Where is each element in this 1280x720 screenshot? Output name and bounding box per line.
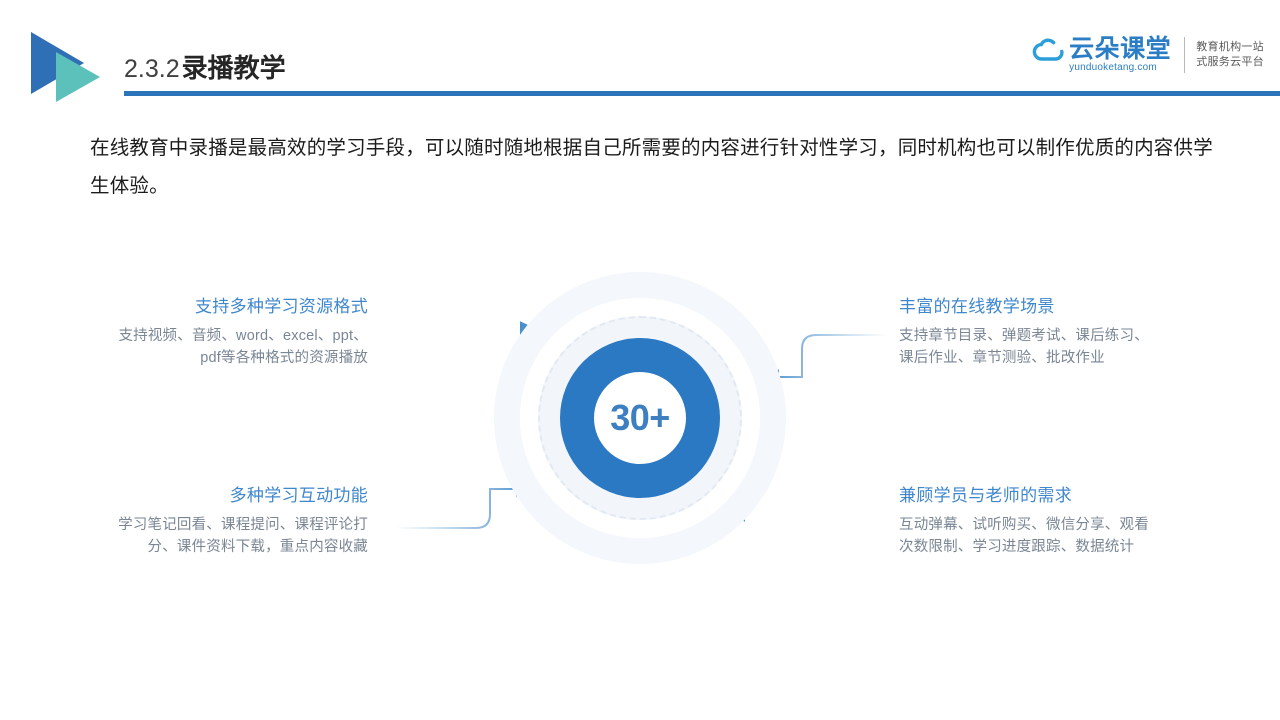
callout-bottom-left-desc-line1: 学习笔记回看、课程提问、课程评论打 bbox=[78, 514, 368, 536]
hub-core: 30+ bbox=[594, 372, 686, 464]
brand-text: 云朵课堂 yunduoketang.com bbox=[1069, 36, 1171, 74]
play-triangle-logo-icon bbox=[22, 28, 114, 106]
header-divider bbox=[124, 91, 1280, 96]
intro-paragraph: 在线教育中录播是最高效的学习手段，可以随时随地根据自己所需要的内容进行针对性学习… bbox=[90, 129, 1220, 205]
section-number: 2.3.2 bbox=[124, 55, 180, 83]
callout-bottom-right: 兼顾学员与老师的需求 互动弹幕、试听购买、微信分享、观看 次数限制、学习进度跟踪… bbox=[899, 484, 1209, 558]
brand-name-cn: 云朵课堂 bbox=[1069, 36, 1171, 62]
slide-root: 2.3.2录播教学 云朵课堂 yunduoketang.com 教育机构一站 式… bbox=[0, 0, 1280, 720]
callout-bottom-left-desc: 学习笔记回看、课程提问、课程评论打 分、课件资料下载，重点内容收藏 bbox=[78, 514, 368, 558]
callout-top-right-title: 丰富的在线教学场景 bbox=[899, 295, 1209, 319]
brand-logo: 云朵课堂 yunduoketang.com 教育机构一站 式服务云平台 bbox=[1031, 29, 1264, 81]
callout-top-left: 支持多种学习资源格式 支持视频、音频、word、excel、ppt、 pdf等各… bbox=[78, 295, 368, 369]
callout-bottom-left-title: 多种学习互动功能 bbox=[78, 484, 368, 508]
callout-top-left-desc-line2: pdf等各种格式的资源播放 bbox=[78, 347, 368, 369]
callout-bottom-left-desc-line2: 分、课件资料下载，重点内容收藏 bbox=[78, 536, 368, 558]
brand-tagline-line2: 式服务云平台 bbox=[1196, 55, 1264, 70]
cloud-icon bbox=[1031, 35, 1065, 69]
callout-top-right-desc: 支持章节目录、弹题考试、课后练习、 课后作业、章节测验、批改作业 bbox=[899, 325, 1209, 369]
callout-bottom-left: 多种学习互动功能 学习笔记回看、课程提问、课程评论打 分、课件资料下载，重点内容… bbox=[78, 484, 368, 558]
callout-top-right: 丰富的在线教学场景 支持章节目录、弹题考试、课后练习、 课后作业、章节测验、批改… bbox=[899, 295, 1209, 369]
brand-name-en: yunduoketang.com bbox=[1069, 62, 1171, 74]
callout-top-left-desc: 支持视频、音频、word、excel、ppt、 pdf等各种格式的资源播放 bbox=[78, 325, 368, 369]
brand-tagline: 教育机构一站 式服务云平台 bbox=[1196, 40, 1264, 70]
callout-top-left-title: 支持多种学习资源格式 bbox=[78, 295, 368, 319]
center-hub-graphic: 30+ bbox=[494, 272, 786, 564]
callout-bottom-right-desc-line1: 互动弹幕、试听购买、微信分享、观看 bbox=[899, 514, 1209, 536]
callout-bottom-right-desc-line2: 次数限制、学习进度跟踪、数据统计 bbox=[899, 536, 1209, 558]
brand-name-group: 云朵课堂 yunduoketang.com bbox=[1031, 36, 1171, 74]
page-title: 2.3.2录播教学 bbox=[124, 48, 286, 85]
callout-bottom-right-title: 兼顾学员与老师的需求 bbox=[899, 484, 1209, 508]
brand-divider bbox=[1184, 37, 1185, 73]
callout-bottom-right-desc: 互动弹幕、试听购买、微信分享、观看 次数限制、学习进度跟踪、数据统计 bbox=[899, 514, 1209, 558]
section-title: 录播教学 bbox=[182, 53, 286, 83]
callout-top-left-desc-line1: 支持视频、音频、word、excel、ppt、 bbox=[78, 325, 368, 347]
callout-top-right-desc-line2: 课后作业、章节测验、批改作业 bbox=[899, 347, 1209, 369]
hub-number-label: 30+ bbox=[610, 397, 670, 439]
brand-tagline-line1: 教育机构一站 bbox=[1196, 40, 1264, 55]
callout-top-right-desc-line1: 支持章节目录、弹题考试、课后练习、 bbox=[899, 325, 1209, 347]
